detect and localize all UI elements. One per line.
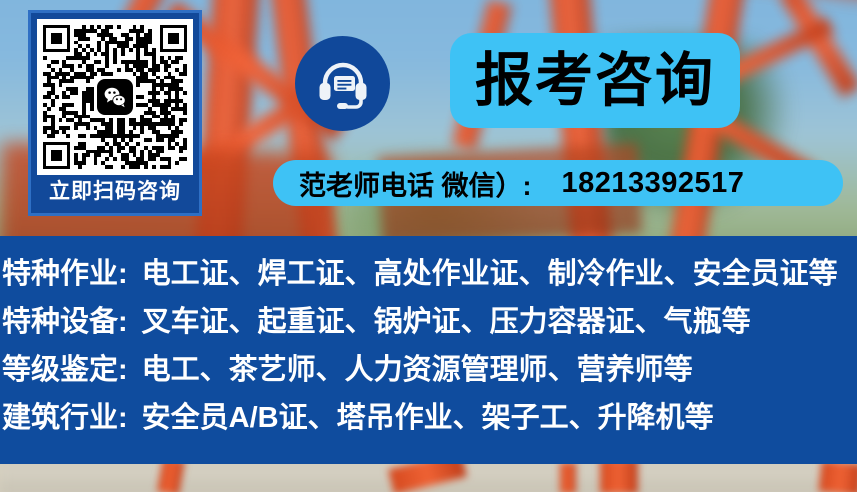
qr-code-card[interactable]: 立即扫码咨询	[28, 10, 202, 216]
qr-code-frame	[37, 19, 193, 175]
course-category-label: 等级鉴定:	[2, 346, 128, 388]
contact-phone-number[interactable]: 18213392517	[562, 167, 745, 200]
background-beam	[560, 462, 576, 492]
course-category-label: 特种设备:	[2, 298, 128, 340]
course-row: 建筑行业: 安全员A/B证、塔吊作业、架子工、升降机等	[0, 394, 857, 442]
course-items: 电工、茶艺师、人力资源管理师、营养师等	[142, 346, 693, 388]
qr-code-image	[43, 25, 187, 169]
page-title: 报考咨询	[475, 52, 715, 110]
course-items: 安全员A/B证、塔吊作业、架子工、升降机等	[142, 394, 714, 436]
headset-support-icon	[295, 36, 390, 131]
course-row: 特种设备: 叉车证、起重证、锅炉证、压力容器证、气瓶等	[0, 298, 857, 346]
title-pill: 报考咨询	[450, 33, 740, 128]
course-items: 电工证、焊工证、高处作业证、制冷作业、安全员证等	[142, 250, 838, 292]
course-row: 等级鉴定: 电工、茶艺师、人力资源管理师、营养师等	[0, 346, 857, 394]
contact-pill[interactable]: 范老师电话 微信）: 18213392517	[273, 160, 843, 206]
background-beam	[818, 460, 857, 492]
qr-caption: 立即扫码咨询	[49, 179, 181, 205]
promo-poster: 立即扫码咨询 报考咨询 范老师电话 微信）: 18213392517 特种作业:…	[0, 0, 857, 492]
wechat-icon	[97, 79, 133, 115]
contact-label: 范老师电话 微信）:	[299, 164, 532, 203]
course-row: 特种作业: 电工证、焊工证、高处作业证、制冷作业、安全员证等	[0, 250, 857, 298]
course-list-band: 特种作业: 电工证、焊工证、高处作业证、制冷作业、安全员证等 特种设备: 叉车证…	[0, 236, 857, 464]
course-category-label: 建筑行业:	[2, 394, 128, 436]
course-category-label: 特种作业:	[2, 250, 128, 292]
course-items: 叉车证、起重证、锅炉证、压力容器证、气瓶等	[142, 298, 751, 340]
